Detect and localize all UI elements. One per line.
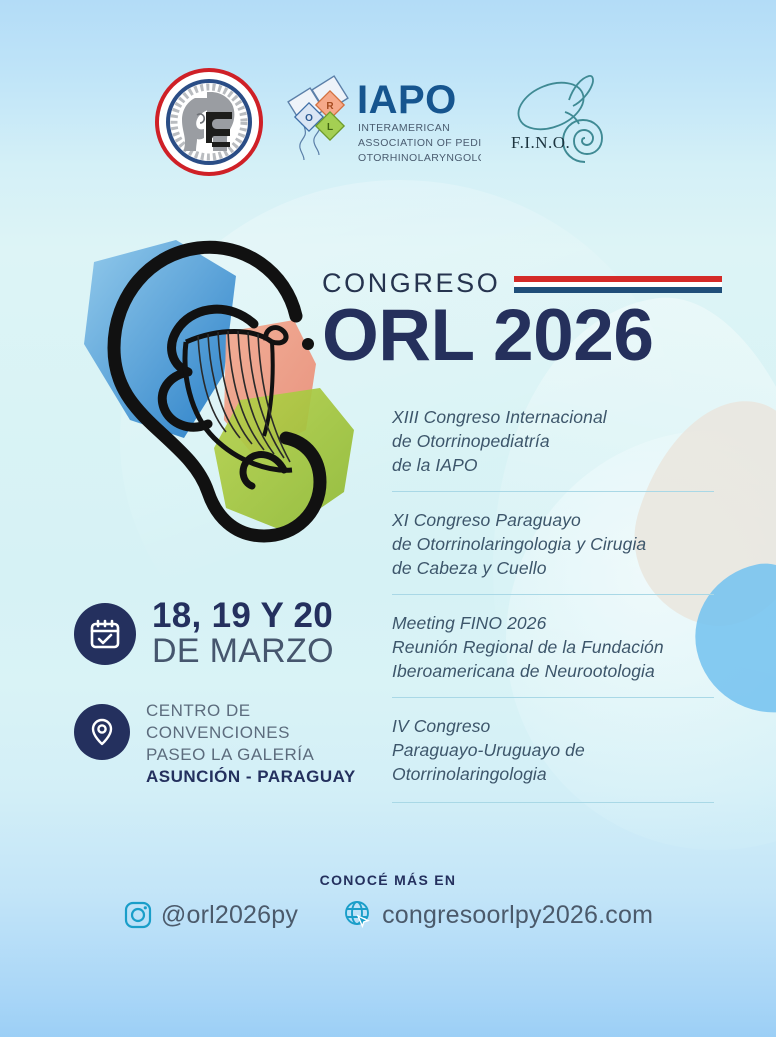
svg-text:F.I.N.O.: F.I.N.O.	[511, 133, 570, 152]
date-text-group: 18, 19 Y 20 DE MARZO	[152, 598, 334, 670]
event-line: de Otorrinopediatría	[392, 430, 714, 454]
venue-text-group: CENTRO DE CONVENCIONES PASEO LA GALERÍA …	[146, 700, 356, 788]
svg-text:IAPO: IAPO	[357, 78, 457, 122]
event-line: XI Congreso Paraguayo	[392, 509, 714, 533]
event-item: IV Congreso Paraguayo-Uruguayo de Otorri…	[392, 697, 714, 800]
event-line: Meeting FINO 2026	[392, 612, 714, 636]
event-item: XIII Congreso Internacional de Otorrinop…	[392, 406, 714, 491]
event-list: XIII Congreso Internacional de Otorrinop…	[392, 406, 714, 803]
event-line: Otorrinolaringologia	[392, 763, 714, 787]
event-line: Reunión Regional de la Fundación	[392, 636, 714, 660]
venue-line-3: PASEO LA GALERÍA	[146, 744, 356, 766]
website-url[interactable]: congresoorlpy2026.com	[382, 901, 653, 930]
event-line: de Cabeza y Cuello	[392, 557, 714, 581]
sponsor-logo-row: O R L IAPO INTERAMERICAN ASSOCIATION OF …	[0, 62, 776, 182]
venue-info: CENTRO DE CONVENCIONES PASEO LA GALERÍA …	[74, 700, 356, 788]
footer: CONOCÉ MÁS EN @orl2026py	[0, 872, 776, 931]
congress-poster: O R L IAPO INTERAMERICAN ASSOCIATION OF …	[0, 0, 776, 1037]
instagram-icon[interactable]	[123, 900, 153, 930]
venue-line-2: CONVENCIONES	[146, 722, 356, 744]
event-item: XI Congreso Paraguayo de Otorrinolaringo…	[392, 491, 714, 594]
date-info: 18, 19 Y 20 DE MARZO	[74, 598, 334, 670]
event-line: IV Congreso	[392, 715, 714, 739]
svg-text:R: R	[326, 101, 334, 112]
footer-kicker: CONOCÉ MÁS EN	[320, 872, 457, 888]
venue-country: ASUNCIÓN - PARAGUAY	[146, 766, 356, 788]
date-days: 18, 19 Y 20	[152, 598, 334, 634]
title-kicker-row: CONGRESO	[322, 270, 722, 297]
ear-harp-logo	[58, 224, 364, 554]
footer-links: @orl2026py congresoorlpy2026.com	[123, 899, 653, 931]
paraguay-flag-stripes	[514, 276, 722, 293]
title-kicker: CONGRESO	[322, 270, 500, 297]
event-item: Meeting FINO 2026 Reunión Regional de la…	[392, 594, 714, 697]
sppo-circular-logo	[155, 68, 263, 176]
instagram-link[interactable]: @orl2026py	[123, 900, 298, 930]
event-line: de Otorrinolaringologia y Cirugia	[392, 533, 714, 557]
instagram-handle[interactable]: @orl2026py	[161, 901, 298, 930]
svg-text:O: O	[305, 113, 313, 124]
svg-text:INTERAMERICAN: INTERAMERICAN	[358, 122, 450, 134]
poster-title: CONGRESO ORL 2026	[322, 270, 722, 373]
website-link[interactable]: congresoorlpy2026.com	[342, 899, 653, 931]
date-month: DE MARZO	[152, 634, 334, 670]
calendar-check-icon	[74, 603, 136, 665]
event-line: XIII Congreso Internacional	[392, 406, 714, 430]
event-list-bottom-divider	[392, 802, 714, 803]
event-line: Iberoamericana de Neurootologia	[392, 660, 714, 684]
flag-stripe-blue	[514, 287, 722, 293]
event-line: de la IAPO	[392, 454, 714, 478]
venue-line-1: CENTRO DE	[146, 700, 356, 722]
iapo-logo: O R L IAPO INTERAMERICAN ASSOCIATION OF …	[285, 73, 481, 171]
svg-text:ASSOCIATION OF PEDIATRIC: ASSOCIATION OF PEDIATRIC	[358, 137, 481, 149]
title-main: ORL 2026	[322, 299, 722, 373]
event-line: Paraguayo-Uruguayo de	[392, 739, 714, 763]
fino-logo: F.I.N.O.	[503, 66, 621, 178]
location-pin-icon	[74, 704, 130, 760]
svg-text:L: L	[327, 122, 333, 133]
svg-text:OTORHINOLARYNGOLOGY: OTORHINOLARYNGOLOGY	[358, 152, 481, 164]
globe-cursor-icon[interactable]	[342, 899, 374, 931]
